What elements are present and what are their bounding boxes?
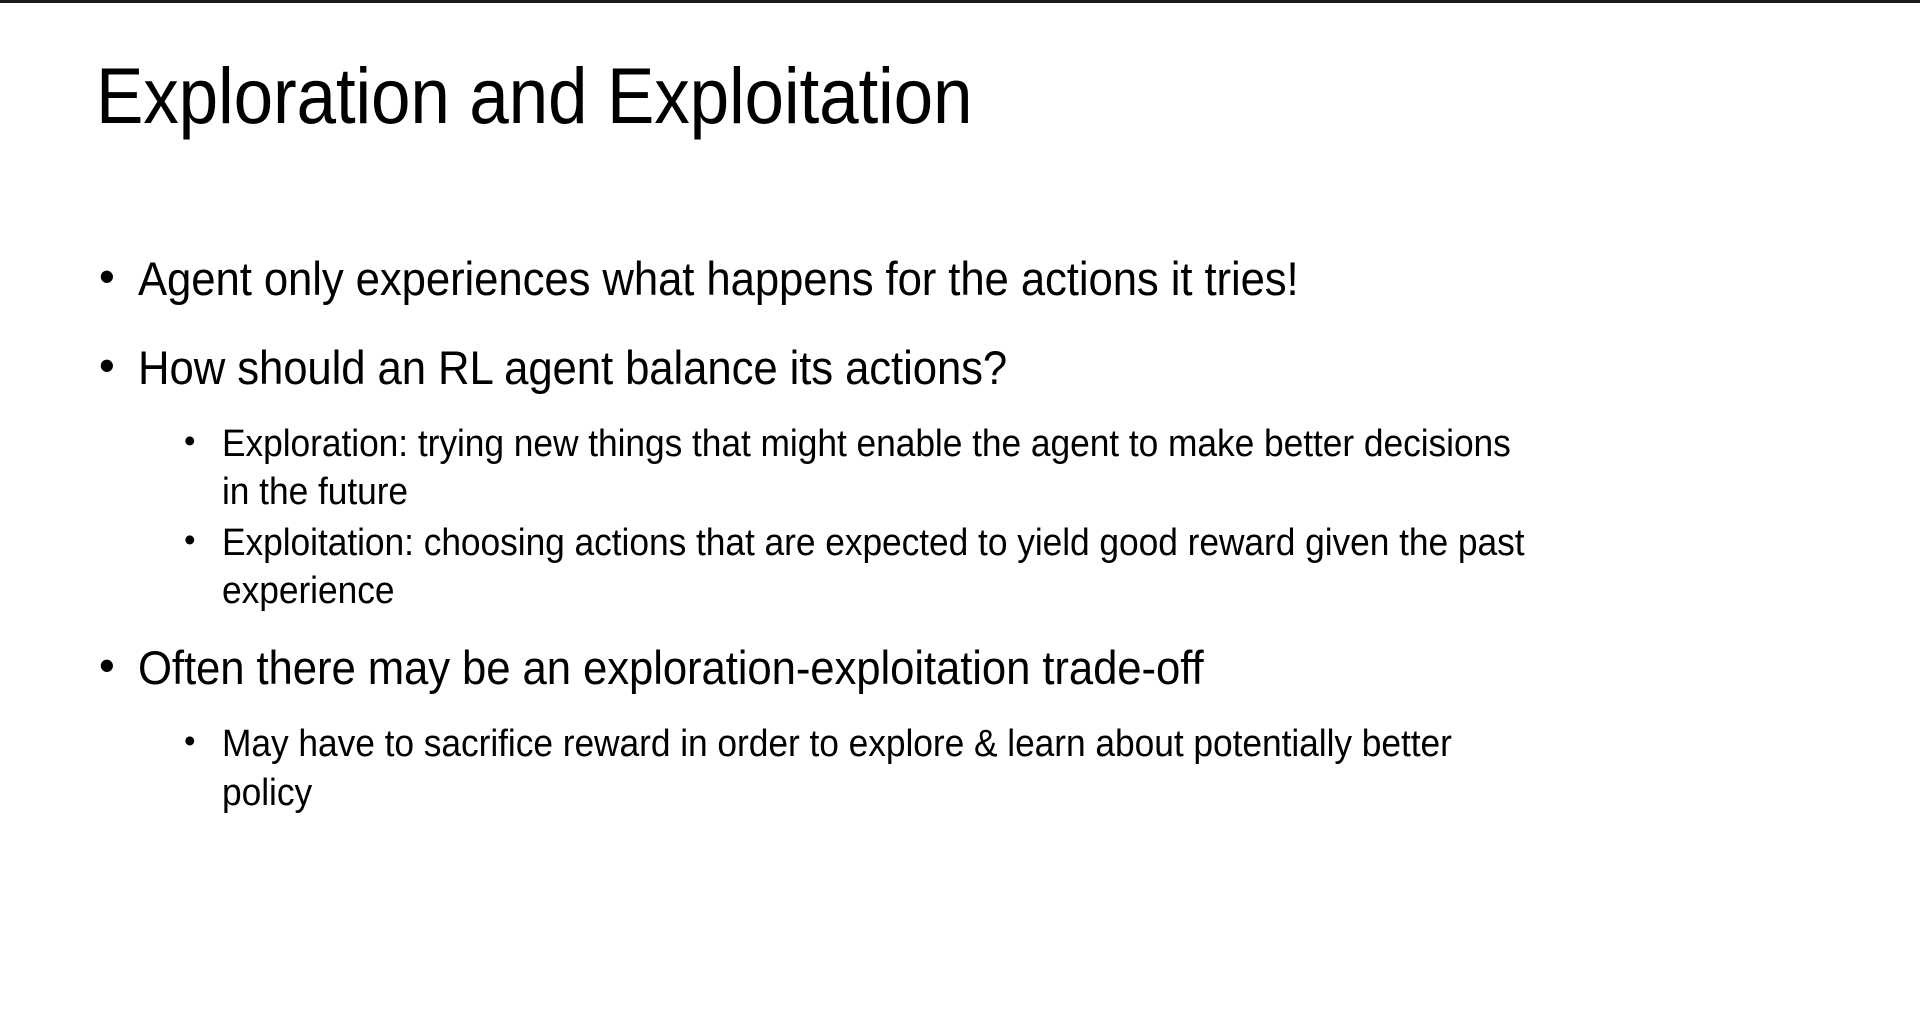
bullet-item-level1: • Agent only experiences what happens fo… (90, 248, 1880, 309)
sub-bullet-text: Exploration: trying new things that migh… (222, 420, 1543, 517)
bullet-text: Often there may be an exploration-exploi… (138, 637, 1758, 698)
bullet-marker-icon: • (90, 248, 138, 307)
sub-bullet-marker-icon: • (182, 519, 222, 562)
bullet-item-level2: • May have to sacrifice reward in order … (90, 720, 1880, 817)
bullet-item-level2: • Exploration: trying new things that mi… (90, 420, 1880, 517)
presentation-slide: Exploration and Exploitation • Agent onl… (0, 0, 1920, 1026)
spacer (90, 315, 1880, 337)
spacer (90, 404, 1880, 420)
spacer (90, 617, 1880, 637)
bullet-item-level1: • How should an RL agent balance its act… (90, 337, 1880, 398)
bullet-text: How should an RL agent balance its actio… (138, 337, 1758, 398)
sub-bullet-text: Exploitation: choosing actions that are … (222, 519, 1543, 616)
slide-body-content: • Agent only experiences what happens fo… (90, 248, 1880, 819)
slide-title: Exploration and Exploitation (96, 53, 1662, 138)
bullet-item-level2: • Exploitation: choosing actions that ar… (90, 519, 1880, 616)
bullet-item-level1: • Often there may be an exploration-expl… (90, 637, 1880, 698)
sub-bullet-marker-icon: • (182, 720, 222, 763)
bullet-marker-icon: • (90, 337, 138, 396)
sub-bullet-marker-icon: • (182, 420, 222, 463)
bullet-marker-icon: • (90, 637, 138, 696)
spacer (90, 704, 1880, 720)
bullet-text: Agent only experiences what happens for … (138, 248, 1758, 309)
sub-bullet-text: May have to sacrifice reward in order to… (222, 720, 1543, 817)
